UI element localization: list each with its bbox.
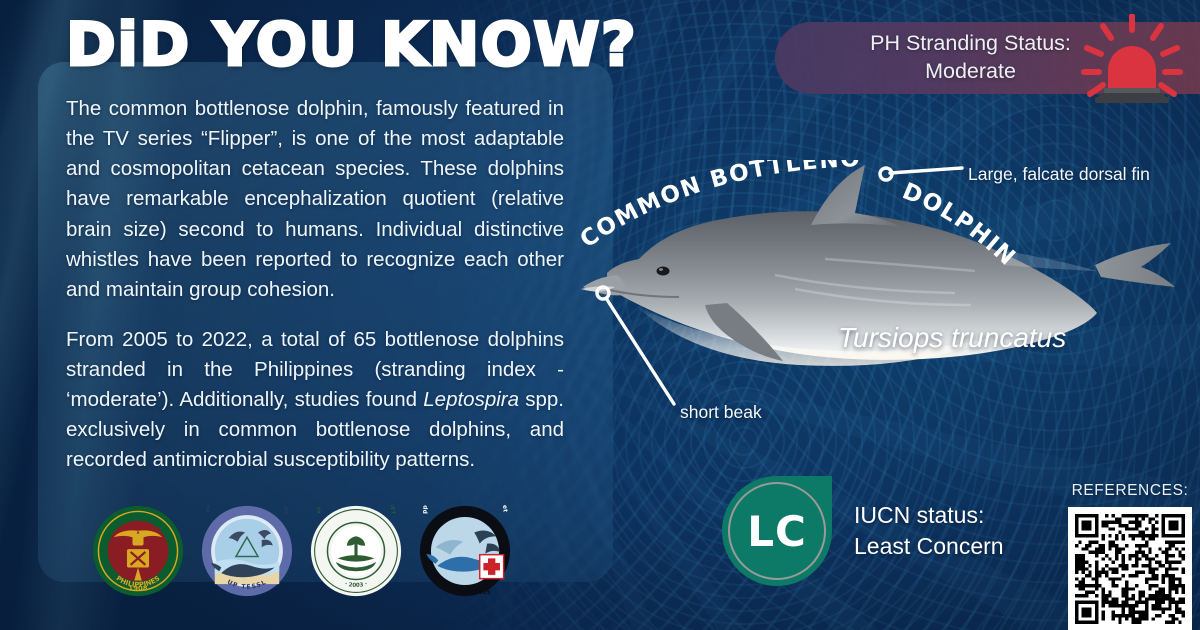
annotation-dorsal-fin: Large, falcate dorsal fin (876, 160, 1200, 200)
iucn-status-value: Least Concern (854, 533, 1004, 559)
info-panel-body: The common bottlenose dolphin, famously … (66, 94, 564, 476)
status-label: PH Stranding Status: (870, 31, 1071, 55)
scientific-name: Tursiops truncatus (838, 322, 1066, 354)
logo-mmrcl: MARINE MAMMAL RESEARCH & CONSERVATION LA… (201, 505, 293, 597)
annotation-short-beak-label: short beak (680, 402, 762, 423)
logo-iesm: INSTITUTE of ENVIRONMENTAL SCIENCE & MET… (310, 505, 402, 597)
paragraph-stranding-info: From 2005 to 2022, a total of 65 bottlen… (66, 325, 564, 476)
iucn-status-label: IUCN status: (854, 502, 984, 528)
infographic-canvas: DiD YOU KNOW? The common bottlenose dolp… (0, 0, 1200, 630)
paragraph-species-info: The common bottlenose dolphin, famously … (66, 94, 564, 305)
logo-up-seal: UNIVERSITY OF THE PHILIPPINES 1908 (92, 505, 184, 597)
logo-pmmsn: Philippine Marine Mammal Stranding Netwo… (419, 505, 511, 597)
annotation-dorsal-fin-label: Large, falcate dorsal fin (968, 164, 1150, 185)
siren-icon (1073, 14, 1191, 106)
page-title: DiD YOU KNOW? (66, 14, 637, 77)
svg-text:1908: 1908 (128, 585, 147, 593)
iucn-badge: LC (722, 476, 832, 586)
references-label: REFERENCES: (1068, 482, 1192, 500)
svg-text:est 2005: est 2005 (462, 590, 491, 596)
iucn-code: LC (747, 507, 807, 556)
partner-logos: UNIVERSITY OF THE PHILIPPINES 1908 (92, 505, 511, 597)
iucn-status-block: LC IUCN status: Least Concern (722, 476, 1004, 586)
references-block: REFERENCES: (1068, 482, 1192, 630)
annotation-short-beak: short beak (590, 280, 800, 430)
status-value: Moderate (925, 59, 1016, 83)
qr-code-icon[interactable] (1068, 507, 1192, 630)
iucn-status-text: IUCN status: Least Concern (854, 500, 1004, 562)
